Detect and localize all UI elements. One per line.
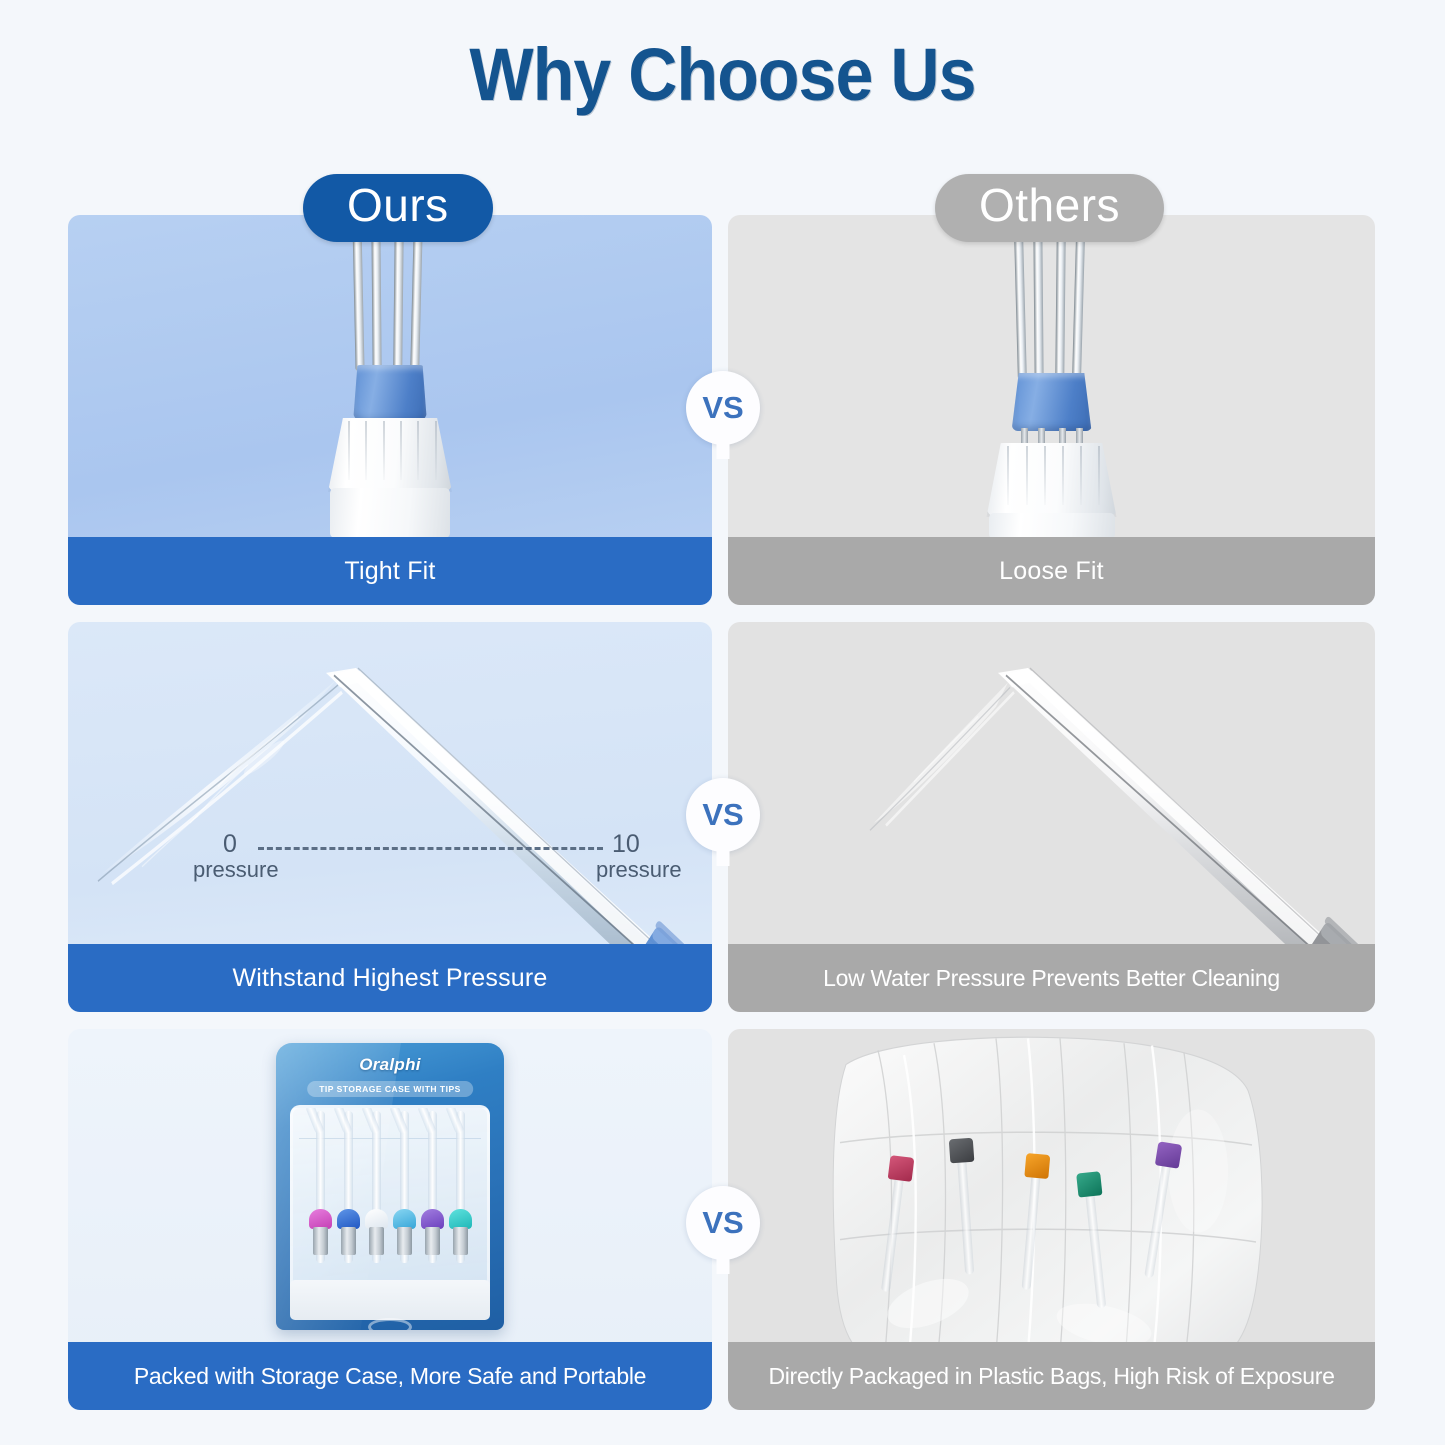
scale-min-value: 0	[223, 830, 237, 859]
base-flutes	[987, 443, 1117, 517]
package-subtitle-label: TIP STORAGE CASE WITH TIPS	[307, 1081, 473, 1097]
tip-storage-case-package: Oralphi TIP STORAGE CASE WITH TIPS	[276, 1043, 504, 1330]
loose-tip	[1018, 1141, 1031, 1288]
column-badge-others: Others	[935, 174, 1164, 242]
vs-badge-pressure: VS	[686, 778, 760, 852]
base-flutes	[328, 418, 452, 492]
package-base-panel	[290, 1280, 490, 1320]
nozzle-tight-fit-image	[290, 215, 490, 537]
vs-badge-packaging: VS	[686, 1186, 760, 1260]
caption-others-packaging: Directly Packaged in Plastic Bags, High …	[728, 1342, 1375, 1410]
package-hang-hole	[368, 1318, 412, 1330]
caption-others-fit: Loose Fit	[728, 537, 1375, 605]
panel-others-pressure: Low Water Pressure Prevents Better Clean…	[728, 622, 1375, 1012]
loose-tip	[951, 1125, 961, 1275]
loose-tip	[877, 1144, 895, 1291]
scale-max-value: 10	[612, 830, 640, 859]
caption-ours-packaging: Packed with Storage Case, More Safe and …	[68, 1342, 712, 1410]
page-title: Why Choose Us	[58, 32, 1387, 117]
scale-min-unit: pressure	[193, 857, 279, 883]
caption-others-pressure: Low Water Pressure Prevents Better Clean…	[728, 944, 1375, 1012]
package-tray	[290, 1105, 490, 1306]
caption-ours-fit: Tight Fit	[68, 537, 712, 605]
panel-ours-pressure: 0 pressure 10 pressure Withstand Highest…	[68, 622, 712, 1012]
package-brand-label: Oralphi	[276, 1055, 504, 1075]
scale-max-unit: pressure	[596, 857, 682, 883]
pressure-scale: 0 pressure 10 pressure	[118, 830, 648, 886]
panel-ours-packaging: Oralphi TIP STORAGE CASE WITH TIPS	[68, 1029, 712, 1410]
panel-others-fit: Loose Fit	[728, 215, 1375, 605]
caption-ours-pressure: Withstand Highest Pressure	[68, 944, 712, 1012]
panel-ours-fit: Tight Fit	[68, 215, 712, 605]
loose-tip	[1140, 1128, 1163, 1276]
scale-dashed-line	[258, 847, 603, 850]
loose-tip	[1079, 1169, 1094, 1308]
nozzle-loose-fit-image	[952, 215, 1152, 537]
tray-divider-line	[299, 1138, 481, 1139]
panel-others-packaging: Directly Packaged in Plastic Bags, High …	[728, 1029, 1375, 1410]
column-badge-ours: Ours	[303, 174, 493, 242]
vs-badge-fit: VS	[686, 371, 760, 445]
